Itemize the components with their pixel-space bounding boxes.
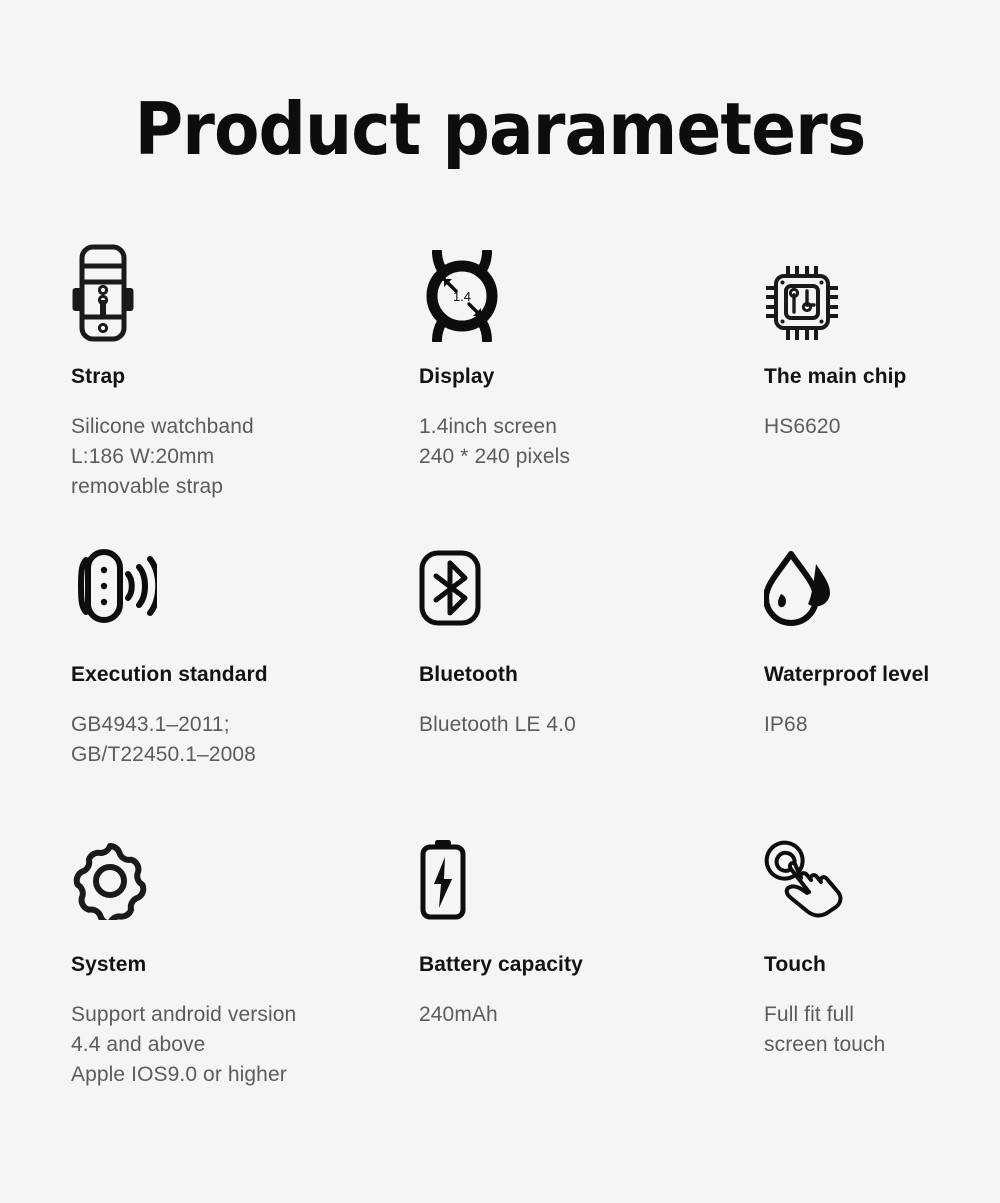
spec-line: Silicone watchband xyxy=(71,412,419,442)
spec-line: removable strap xyxy=(71,472,419,502)
spec-line: 240mAh xyxy=(419,1000,764,1030)
spec-line: L:186 W:20mm xyxy=(71,442,419,472)
spec-line: 240 * 240 pixels xyxy=(419,442,764,472)
spec-cell-main-chip: The main chip HS6620 xyxy=(764,246,951,538)
battery-bolt-icon xyxy=(419,828,764,920)
spec-title: The main chip xyxy=(764,364,951,390)
spec-description: Bluetooth LE 4.0 xyxy=(419,710,764,740)
spec-description: Silicone watchband L:186 W:20mm removabl… xyxy=(71,412,419,502)
watch-display-icon: 1.4 xyxy=(419,246,764,342)
spec-description: HS6620 xyxy=(764,412,951,442)
spec-title: Battery capacity xyxy=(419,952,764,978)
spec-line: GB/T22450.1–2008 xyxy=(71,740,419,770)
spec-title: Waterproof level xyxy=(764,662,951,688)
spec-title: Display xyxy=(419,364,764,390)
spec-description: IP68 xyxy=(764,710,951,740)
gear-icon xyxy=(71,828,419,920)
spec-grid: Strap Silicone watchband L:186 W:20mm re… xyxy=(71,246,951,1090)
signal-device-icon xyxy=(71,538,419,626)
spec-cell-system: System Support android version 4.4 and a… xyxy=(71,828,419,1090)
water-drop-icon xyxy=(764,538,951,626)
spec-line: Full fit full xyxy=(764,1000,951,1030)
bluetooth-icon xyxy=(419,538,764,626)
spec-title: System xyxy=(71,952,419,978)
page-title: Product parameters xyxy=(40,88,960,170)
spec-title: Execution standard xyxy=(71,662,419,688)
spec-line: Apple IOS9.0 or higher xyxy=(71,1060,419,1090)
spec-description: Full fit full screen touch xyxy=(764,1000,951,1060)
spec-description: 240mAh xyxy=(419,1000,764,1030)
product-parameters-page: Product parameters xyxy=(0,0,1000,1203)
spec-title: Bluetooth xyxy=(419,662,764,688)
spec-line: HS6620 xyxy=(764,412,951,442)
spec-cell-display: 1.4 Display 1.4inch screen 240 * 240 pix… xyxy=(419,246,764,538)
spec-description: Support android version 4.4 and above Ap… xyxy=(71,1000,419,1090)
spec-cell-touch: Touch Full fit full screen touch xyxy=(764,828,951,1090)
spec-cell-waterproof: Waterproof level IP68 xyxy=(764,538,951,828)
spec-line: Bluetooth LE 4.0 xyxy=(419,710,764,740)
spec-title: Touch xyxy=(764,952,951,978)
spec-description: 1.4inch screen 240 * 240 pixels xyxy=(419,412,764,472)
cpu-chip-icon xyxy=(764,246,951,342)
spec-line: 1.4inch screen xyxy=(419,412,764,442)
spec-line: IP68 xyxy=(764,710,951,740)
spec-line: GB4943.1–2011; xyxy=(71,710,419,740)
spec-line: Support android version xyxy=(71,1000,419,1030)
display-size-label: 1.4 xyxy=(453,289,471,304)
spec-line: 4.4 and above xyxy=(71,1030,419,1060)
spec-cell-strap: Strap Silicone watchband L:186 W:20mm re… xyxy=(71,246,419,538)
spec-title: Strap xyxy=(71,364,419,390)
spec-description: GB4943.1–2011; GB/T22450.1–2008 xyxy=(71,710,419,770)
watch-strap-icon xyxy=(71,246,419,342)
spec-cell-bluetooth: Bluetooth Bluetooth LE 4.0 xyxy=(419,538,764,828)
spec-line: screen touch xyxy=(764,1030,951,1060)
spec-cell-battery: Battery capacity 240mAh xyxy=(419,828,764,1090)
spec-cell-execution-standard: Execution standard GB4943.1–2011; GB/T22… xyxy=(71,538,419,828)
touch-hand-icon xyxy=(764,828,951,920)
